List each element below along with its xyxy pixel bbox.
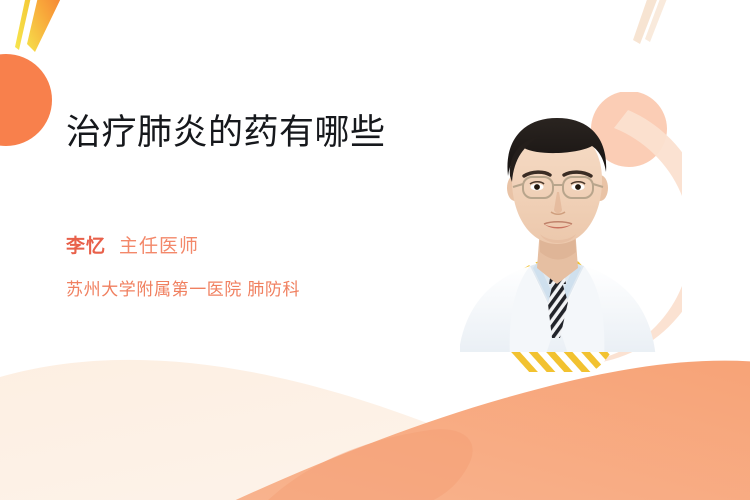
doctor-name: 李忆: [66, 231, 106, 258]
portrait-container: [452, 92, 682, 372]
salmon-wave-lobe: [258, 429, 473, 500]
byline: 李忆 主任医师: [66, 231, 418, 258]
orange-circle-decor: [0, 54, 52, 146]
bottom-left-stripe: [155, 363, 177, 398]
top-right-stripes: [633, 0, 670, 44]
text-block: 治疗肺炎的药有哪些 李忆 主任医师 苏州大学附属第一医院 肺防科: [66, 112, 418, 300]
doctor-title: 主任医师: [119, 231, 199, 258]
doctor-affiliation: 苏州大学附属第一医院 肺防科: [66, 275, 418, 300]
doctor-info-slide: 治疗肺炎的药有哪些 李忆 主任医师 苏州大学附属第一医院 肺防科: [0, 0, 750, 500]
page-title: 治疗肺炎的药有哪些: [66, 112, 418, 155]
salmon-wave: [214, 361, 750, 500]
cream-wave: [0, 360, 750, 500]
doctor-portrait: [452, 92, 682, 372]
top-left-stripes: [15, 0, 63, 52]
